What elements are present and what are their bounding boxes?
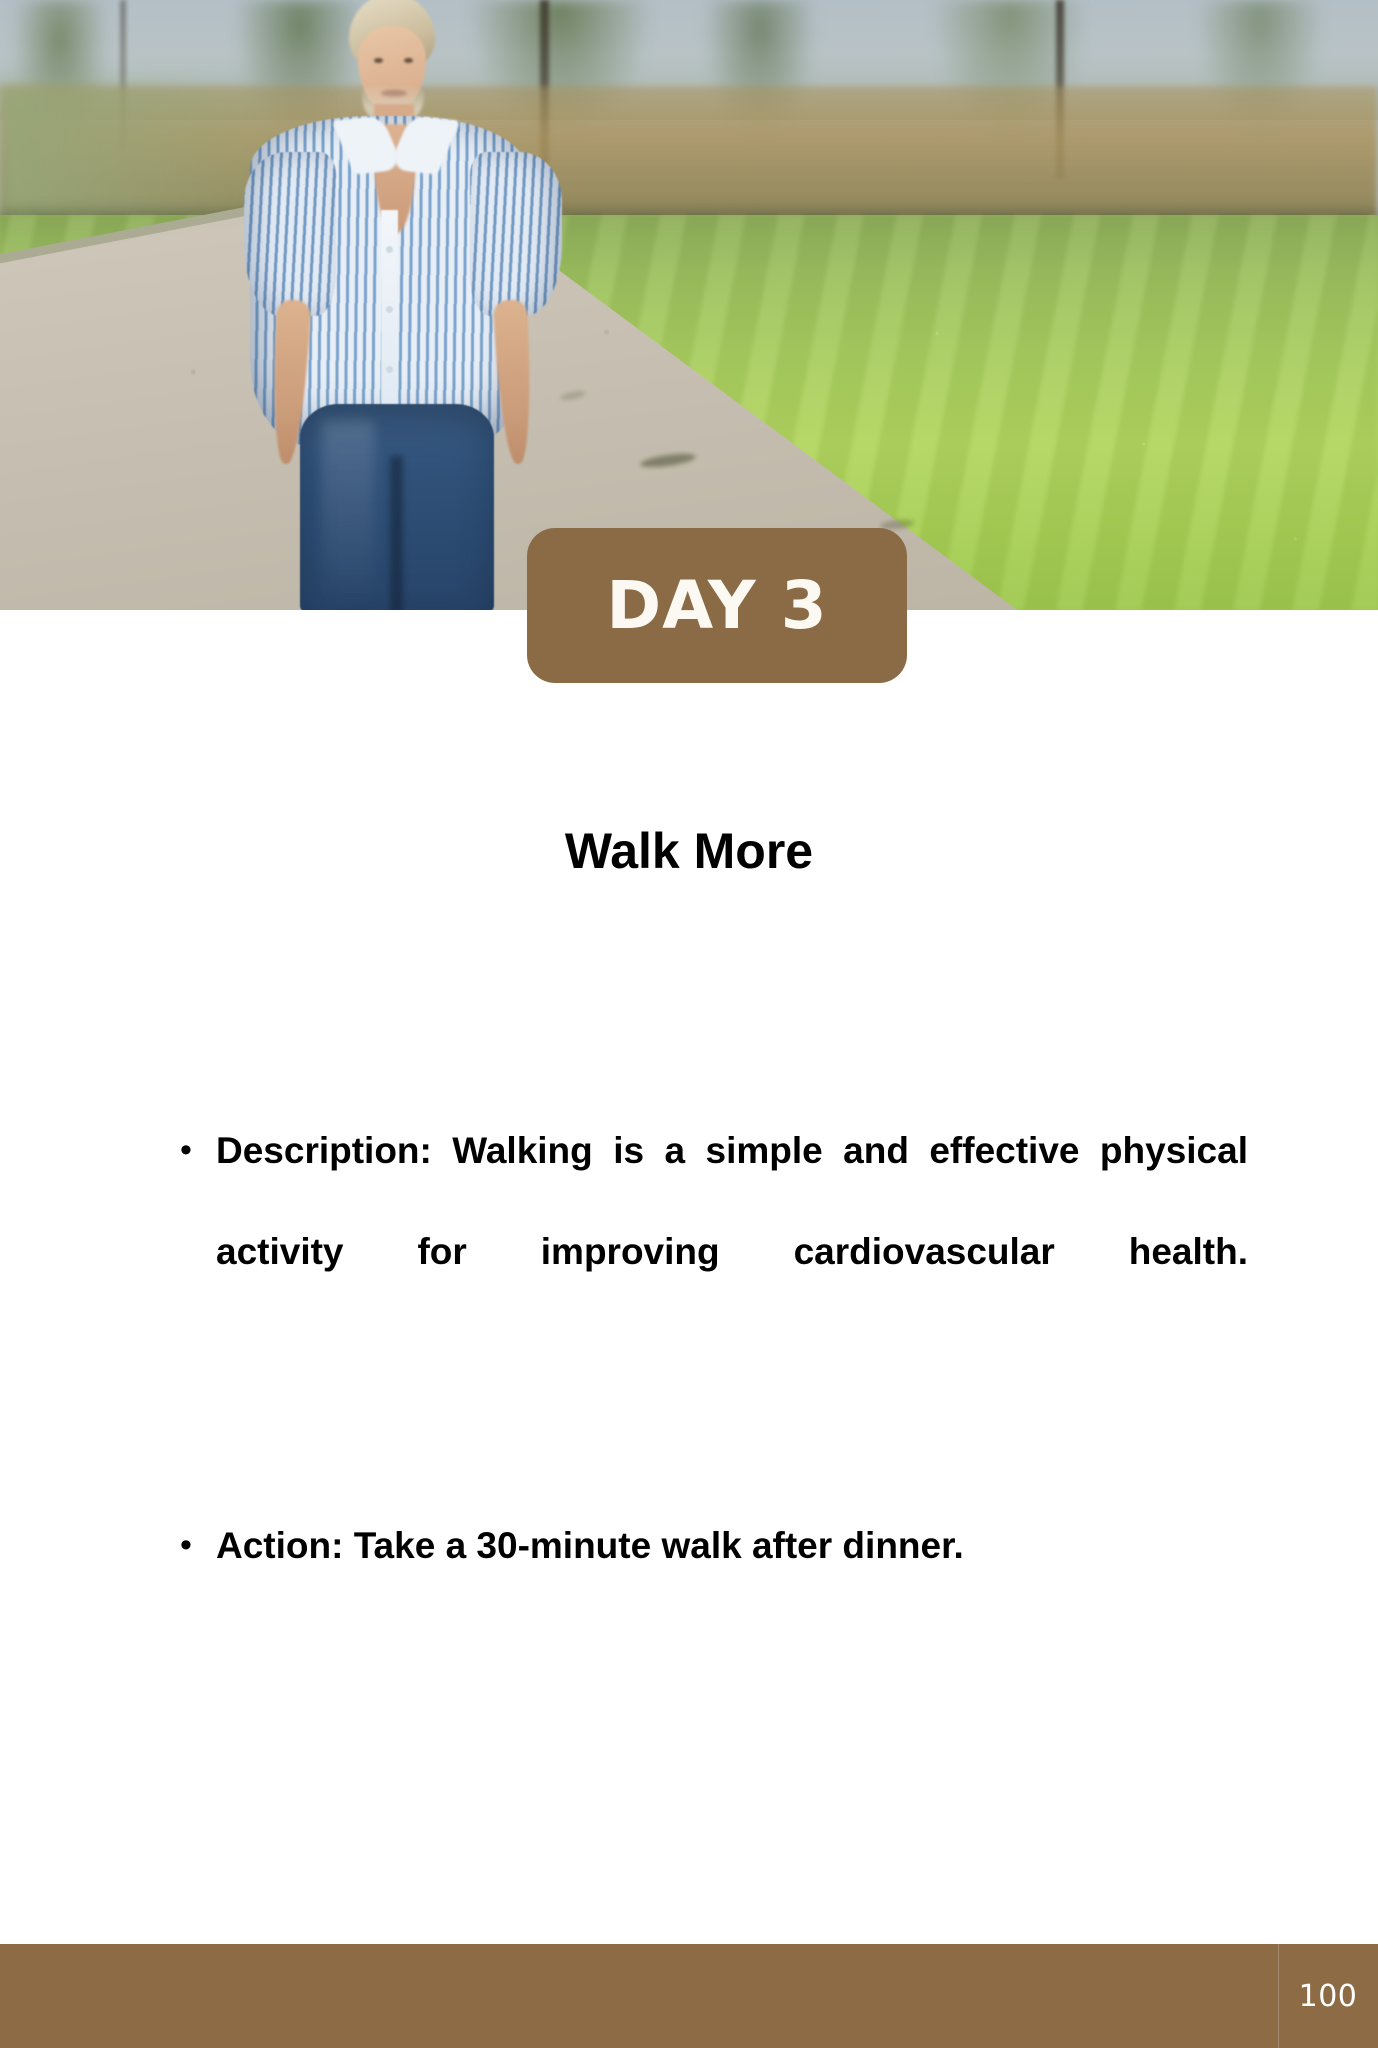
list-item: • Action: Take a 30-minute walk after di… <box>180 1495 1248 1596</box>
footer-bar: 100 <box>0 1944 1378 2048</box>
shirt-sleeve-left <box>244 152 336 316</box>
hero-photo <box>0 0 1378 610</box>
day-badge-label: DAY 3 <box>606 573 827 639</box>
shirt-button <box>386 246 393 253</box>
bullet-dot-icon: • <box>180 1100 216 1201</box>
page-title: Walk More <box>0 826 1378 876</box>
bullet-dot-icon: • <box>180 1495 216 1596</box>
page-number: 100 <box>1278 1944 1378 2048</box>
jeans-highlight <box>322 420 374 610</box>
bullet-list: • Description: Walking is a simple and e… <box>180 1100 1248 1596</box>
shirt-sleeve-right <box>470 152 562 316</box>
bullet-text-action: Action: Take a 30-minute walk after dinn… <box>216 1495 1248 1596</box>
bullet-text-description: Description: Walking is a simple and eff… <box>216 1100 1248 1403</box>
day-badge: DAY 3 <box>527 528 907 683</box>
jeans-leg-split <box>390 456 403 610</box>
person-eye-left <box>374 58 383 63</box>
shirt-button <box>386 306 393 313</box>
shirt-button <box>386 366 393 373</box>
list-item: • Description: Walking is a simple and e… <box>180 1100 1248 1403</box>
person-eye-right <box>404 58 413 63</box>
